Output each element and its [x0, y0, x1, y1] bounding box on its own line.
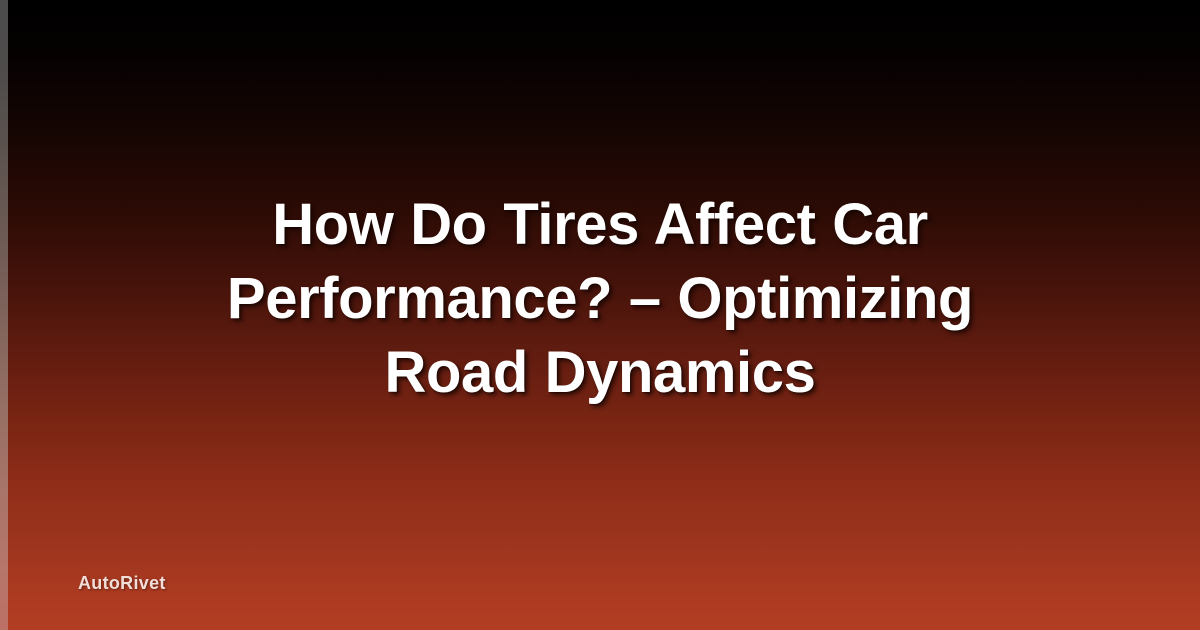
title-line-2: Performance? – Optimizing	[227, 266, 973, 331]
social-share-card: How Do Tires Affect Car Performance? – O…	[0, 0, 1200, 630]
headline-block: How Do Tires Affect Car Performance? – O…	[0, 188, 1200, 410]
title-line-3: Road Dynamics	[385, 340, 816, 405]
brand-name: AutoRivet	[78, 573, 166, 594]
left-edge-strip	[0, 0, 8, 630]
page-title: How Do Tires Affect Car Performance? – O…	[56, 188, 1144, 410]
title-line-1: How Do Tires Affect Car	[272, 192, 928, 257]
brand-logo: AutoRivet	[78, 573, 166, 594]
